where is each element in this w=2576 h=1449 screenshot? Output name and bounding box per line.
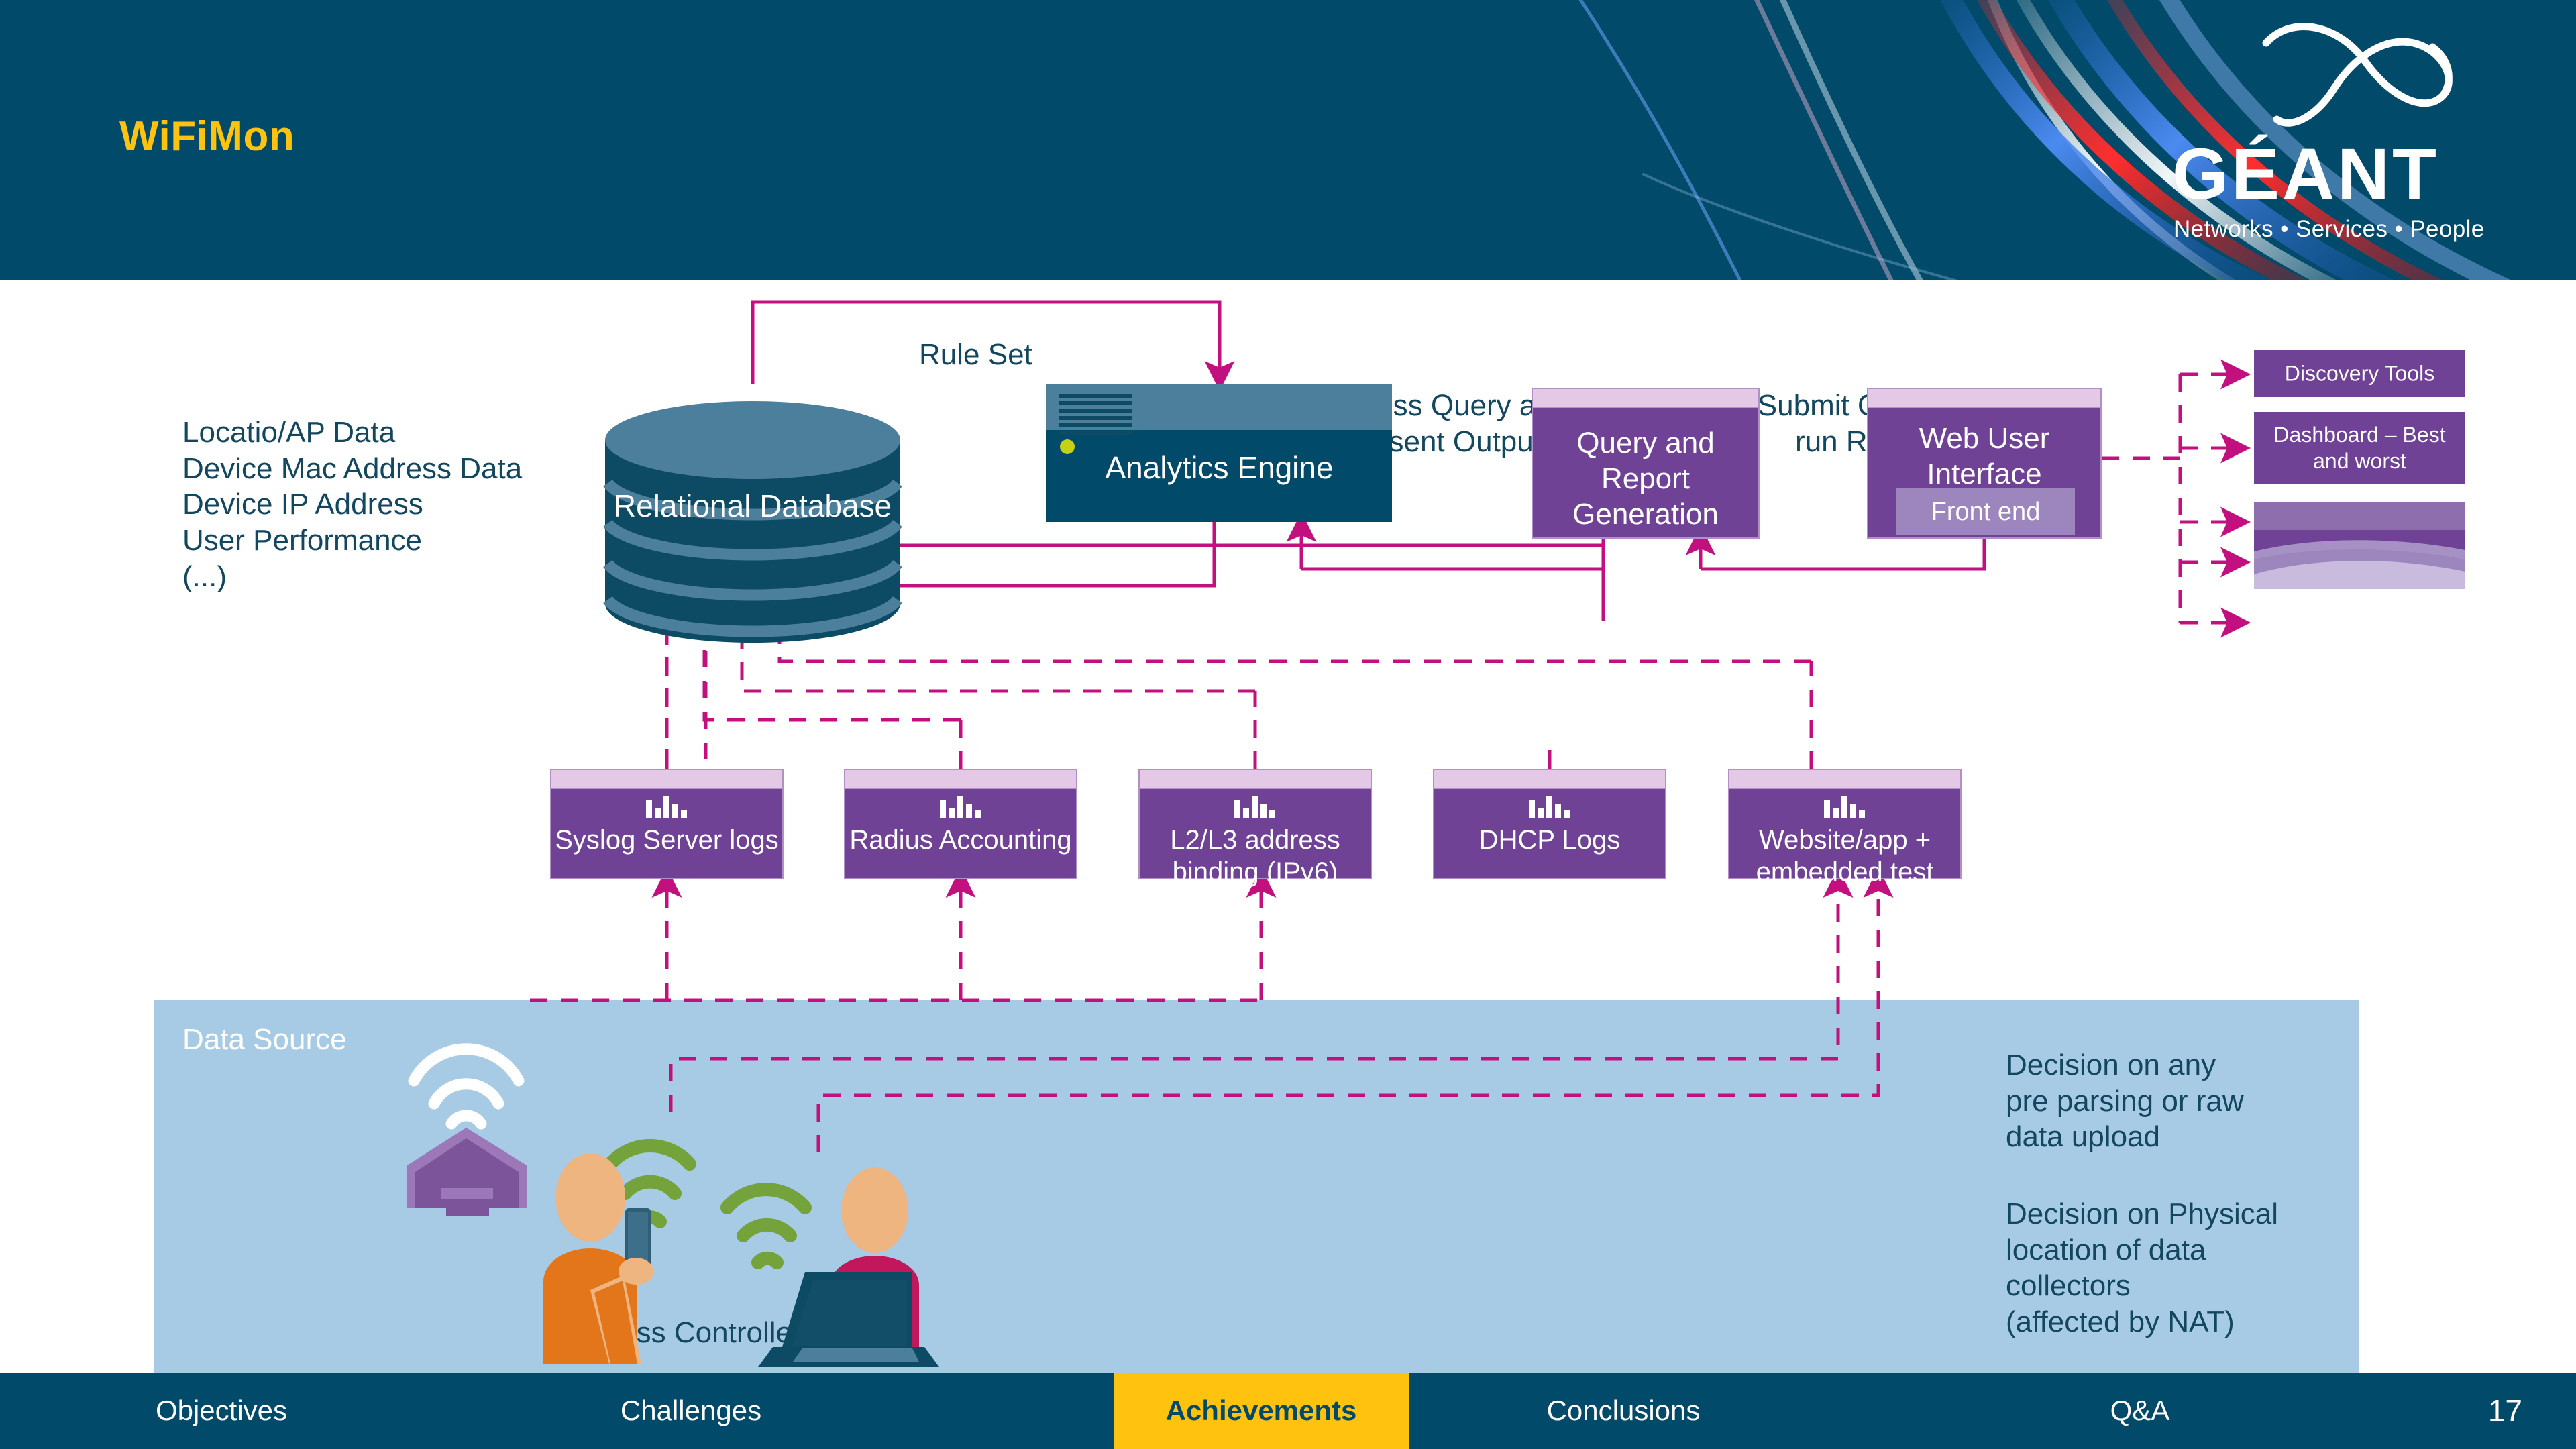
data-source-label: Website/app + embedded test: [1729, 824, 1960, 888]
document-lines-icon: [1059, 394, 1132, 438]
discovery-tools-node[interactable]: Discovery Tools: [2254, 350, 2465, 397]
wave-layers-icon: [2254, 502, 2465, 589]
slide-footer-nav: Objectives Challenges Achievements Concl…: [0, 1373, 2576, 1449]
slide-header: WiFiMon GÉANT Networks • Services • Peop…: [0, 0, 2576, 280]
geant-infinity-icon: [2253, 20, 2461, 148]
data-source-label: Radius Accounting: [845, 824, 1076, 856]
dashboard-label: Dashboard – Best and worst: [2254, 422, 2465, 474]
analytics-engine-label: Analytics Engine: [1046, 449, 1392, 486]
geant-wordmark: GÉANT: [2172, 138, 2454, 210]
data-source-dhcp-logs[interactable]: DHCP Logs: [1433, 769, 1666, 879]
window-titlebar: [551, 770, 782, 789]
analytics-engine-titlebar: [1046, 384, 1392, 430]
query-report-generation-label: Query and Report Generation: [1533, 426, 1758, 532]
bar-chart-icon: [1234, 792, 1276, 818]
nav-item-conclusions[interactable]: Conclusions: [1409, 1373, 1838, 1449]
discovery-tools-label: Discovery Tools: [2254, 360, 2465, 386]
bar-chart-icon: [646, 792, 688, 818]
decision-note-1: Decision on any pre parsing or raw data …: [2006, 1047, 2328, 1155]
data-source-radius-accounting[interactable]: Radius Accounting: [844, 769, 1077, 879]
relational-database-node[interactable]: Relational Database: [598, 401, 907, 643]
mobile-client-laptop-user-icon: [718, 1152, 939, 1367]
dashboard-wave-graphic: [2254, 502, 2465, 589]
rule-set-label: Rule Set: [919, 337, 1032, 373]
web-user-interface-label: Web User Interface: [1868, 421, 2100, 492]
data-source-syslog-server-logs[interactable]: Syslog Server logs: [550, 769, 784, 879]
wireless-access-point-icon: [399, 1028, 543, 1216]
window-titlebar: [1729, 770, 1960, 789]
diagram-canvas: Locatio/AP Data Device Mac Address Data …: [0, 280, 2576, 1368]
data-source-label: DHCP Logs: [1434, 824, 1665, 856]
front-end-badge[interactable]: Front end: [1896, 488, 2075, 535]
dashboard-node[interactable]: Dashboard – Best and worst: [2254, 412, 2465, 484]
window-titlebar: [1434, 770, 1665, 789]
relational-database-label: Relational Database: [598, 487, 907, 526]
window-titlebar: [1140, 770, 1371, 789]
slide-root: WiFiMon GÉANT Networks • Services • Peop…: [0, 0, 2576, 1449]
nav-item-qa[interactable]: Q&A: [1932, 1373, 2348, 1449]
window-titlebar: [1533, 389, 1758, 408]
nav-item-challenges[interactable]: Challenges: [443, 1373, 939, 1449]
geant-tagline: Networks • Services • People: [2173, 216, 2536, 243]
page-title: WiFiMon: [119, 113, 294, 160]
bar-chart-icon: [1529, 792, 1570, 818]
nav-item-achievements[interactable]: Achievements: [1114, 1373, 1409, 1449]
window-titlebar: [845, 770, 1076, 789]
bar-chart-icon: [940, 792, 981, 818]
geant-logo: GÉANT Networks • Services • People: [2165, 20, 2541, 252]
data-source-label: L2/L3 address binding (IPv6): [1140, 824, 1371, 888]
nav-item-objectives[interactable]: Objectives: [0, 1373, 443, 1449]
input-data-list: Locatio/AP Data Device Mac Address Data …: [182, 415, 522, 594]
decision-note-2: Decision on Physical location of data co…: [2006, 1196, 2328, 1340]
data-source-website-app-embedded-test[interactable]: Website/app + embedded test: [1728, 769, 1962, 879]
web-user-interface-node[interactable]: Web User Interface Front end: [1867, 388, 2102, 539]
data-source-l2-l3-address-binding[interactable]: L2/L3 address binding (IPv6): [1138, 769, 1372, 879]
analytics-engine-node[interactable]: Analytics Engine: [1046, 384, 1392, 522]
bar-chart-icon: [1824, 792, 1866, 818]
window-titlebar: [1868, 389, 2100, 408]
query-report-generation-node[interactable]: Query and Report Generation: [1532, 388, 1760, 539]
data-source-label: Syslog Server logs: [551, 824, 782, 856]
data-source-title: Data Source: [182, 1022, 347, 1058]
page-number: 17: [2488, 1373, 2522, 1449]
mobile-client-phone-user-icon: [523, 1122, 718, 1364]
